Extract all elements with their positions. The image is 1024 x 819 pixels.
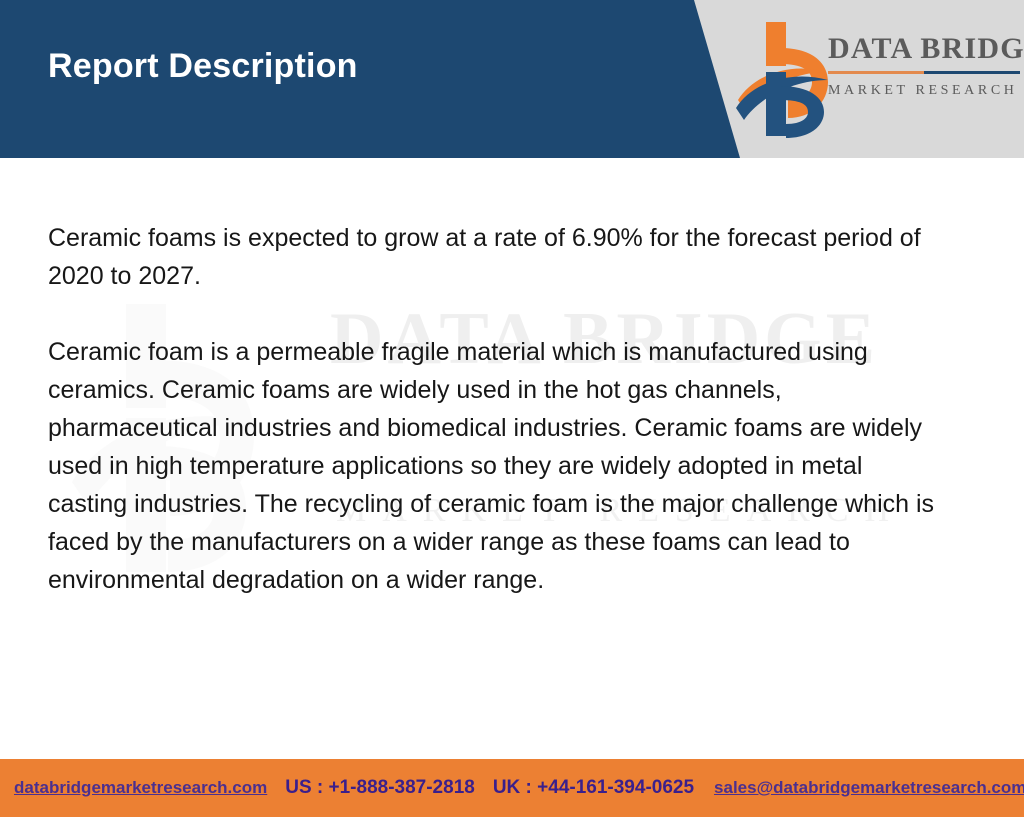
- footer-phone-uk[interactable]: UK : +44-161-394-0625: [493, 777, 694, 799]
- paragraph-overview: Ceramic foam is a permeable fragile mate…: [48, 333, 948, 599]
- brand-logo: DATA BRIDGE MARKET RESEARCH: [736, 16, 1020, 142]
- data-bridge-b-mark-icon: [736, 16, 832, 142]
- footer-bar: databridgemarketresearch.com US : +1-888…: [0, 759, 1024, 817]
- logo-divider-rule: [828, 71, 1020, 74]
- report-description-body: Ceramic foams is expected to grow at a r…: [48, 219, 948, 599]
- logo-wordmark: DATA BRIDGE MARKET RESEARCH: [828, 34, 1020, 128]
- page-title: Report Description: [48, 48, 358, 85]
- footer-phone-us[interactable]: US : +1-888-387-2818: [285, 777, 475, 799]
- footer-website-link[interactable]: databridgemarketresearch.com: [14, 778, 267, 798]
- logo-title: DATA BRIDGE: [828, 34, 1020, 64]
- paragraph-growth-rate: Ceramic foams is expected to grow at a r…: [48, 219, 948, 295]
- slide: Report Description DATA BRIDGE MARKE: [0, 0, 1024, 819]
- logo-subtitle: MARKET RESEARCH: [828, 83, 1020, 99]
- footer-email-link[interactable]: sales@databridgemarketresearch.com: [714, 778, 1024, 798]
